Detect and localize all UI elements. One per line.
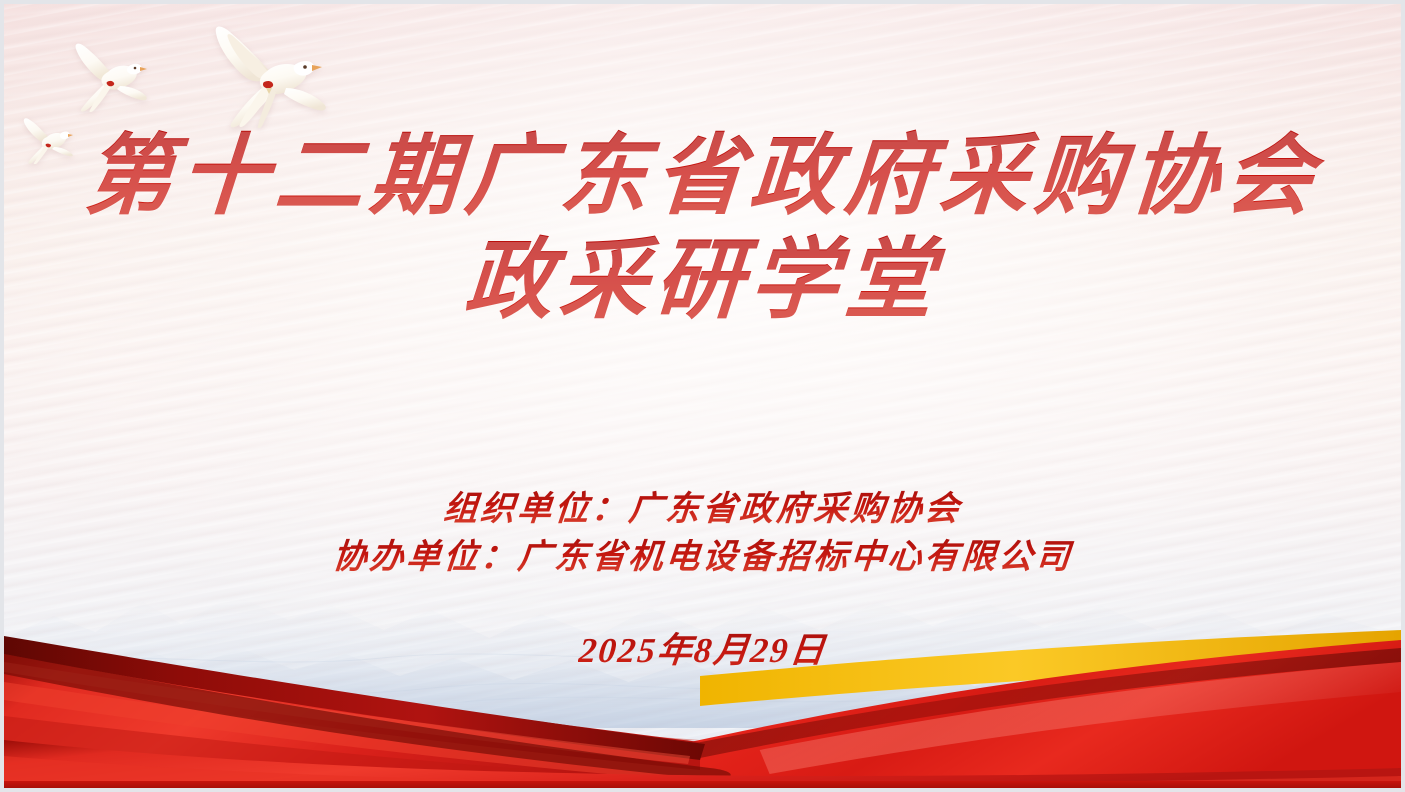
title-line-2: 政采研学堂 xyxy=(0,230,1404,334)
organizer-block: 组织单位：广东省政府采购协会 协办单位：广东省机电设备招标中心有限公司 xyxy=(4,486,1401,582)
title-line-1: 第十二期广东省政府采购协会 xyxy=(0,126,1404,230)
event-date-block: 2025年8月29日 xyxy=(4,628,1401,674)
ribbon-base-strip xyxy=(4,781,1401,788)
presentation-slide: 第十二期广东省政府采购协会 政采研学堂 组织单位：广东省政府采购协会 协办单位：… xyxy=(0,0,1405,792)
organizer-line: 组织单位：广东省政府采购协会 xyxy=(2,486,1403,534)
slide-title: 第十二期广东省政府采购协会 政采研学堂 xyxy=(4,126,1401,334)
dove-icon xyxy=(66,40,148,112)
co-organizer-line: 协办单位：广东省机电设备招标中心有限公司 xyxy=(2,534,1403,582)
event-date: 2025年8月29日 xyxy=(576,628,828,674)
dove-icon xyxy=(200,22,328,128)
